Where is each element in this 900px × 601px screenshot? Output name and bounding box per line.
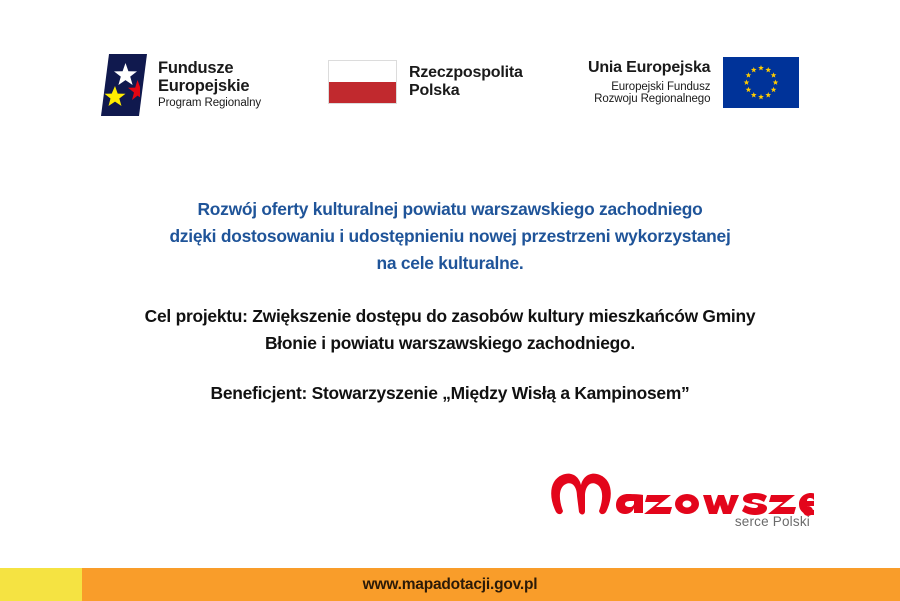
project-goal-line-2: Błonie i powiatu warszawskiego zachodnie…	[0, 330, 900, 357]
eu-subtitle-line1: Europejski Fundusz	[588, 81, 710, 94]
poland-line2: Polska	[409, 82, 523, 100]
mazowsze-tagline: serce Polski	[735, 514, 810, 529]
poland-wordmark: Rzeczpospolita Polska	[409, 64, 523, 100]
eu-subtitle: Europejski Fundusz Rozwoju Regionalnego	[588, 81, 710, 107]
eu-line1: Unia Europejska	[588, 59, 710, 77]
headline-line-3: na cele kulturalne.	[0, 250, 900, 277]
project-goal-text: Cel projektu: Zwiększenie dostępu do zas…	[0, 303, 900, 357]
logo-unia-europejska: Unia Europejska Europejski Fundusz Rozwo…	[588, 57, 799, 108]
beneficiary-text: Beneficjent: Stowarzyszenie „Między Wisł…	[0, 383, 900, 404]
eu-subtitle-line2: Rozwoju Regionalnego	[588, 93, 710, 106]
eu-flag-icon	[723, 57, 799, 108]
mazowsze-wordmark-icon	[546, 466, 814, 518]
polish-flag-icon	[328, 60, 397, 104]
eu-funds-line1: Fundusze	[158, 60, 261, 77]
footer-url-text[interactable]: www.mapadotacji.gov.pl	[0, 568, 900, 601]
eu-funds-wordmark: Fundusze Europejskie Program Regionalny	[158, 60, 261, 110]
logo-mazowsze: serce Polski	[546, 466, 814, 538]
headline-line-1: Rozwój oferty kulturalnej powiatu warsza…	[0, 196, 900, 223]
project-headline: Rozwój oferty kulturalnej powiatu warsza…	[0, 196, 900, 277]
eu-funds-subtitle: Program Regionalny	[158, 98, 261, 110]
logo-rzeczpospolita-polska: Rzeczpospolita Polska	[328, 60, 523, 104]
logo-fundusze-europejskie: Fundusze Europejskie Program Regionalny	[101, 54, 261, 116]
project-goal-line-1: Cel projektu: Zwiększenie dostępu do zas…	[0, 303, 900, 330]
headline-line-2: dzięki dostosowaniu i udostępnieniu nowe…	[0, 223, 900, 250]
poland-line1: Rzeczpospolita	[409, 64, 523, 82]
footer-bar: www.mapadotacji.gov.pl	[0, 568, 900, 601]
logo-strip: Fundusze Europejskie Program Regionalny …	[0, 46, 900, 142]
eu-funds-stars-mark-icon	[101, 54, 147, 116]
eu-funds-line2: Europejskie	[158, 78, 261, 95]
eu-wordmark: Unia Europejska Europejski Fundusz Rozwo…	[588, 59, 710, 107]
